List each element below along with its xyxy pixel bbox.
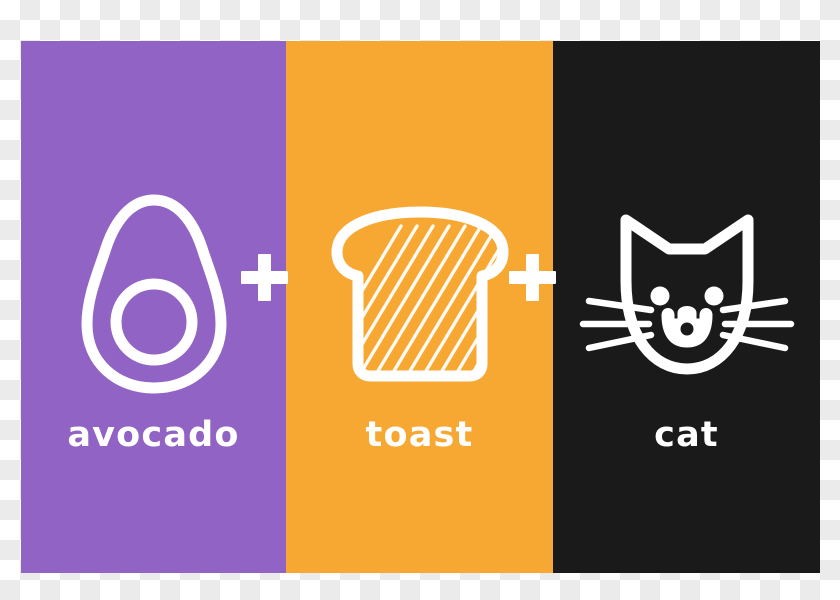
transparency-canvas: avocado <box>0 0 840 600</box>
plus-bar-vertical <box>258 254 271 301</box>
plus-bar-vertical <box>526 254 539 301</box>
panel-avocado[interactable]: avocado <box>21 41 286 573</box>
toast-icon <box>327 204 513 384</box>
plus-operator-1 <box>241 254 288 301</box>
panel-cat[interactable]: cat <box>553 41 820 573</box>
cat-icon-container <box>553 191 820 396</box>
plus-operator-2 <box>509 254 556 301</box>
panel-label-toast: toast <box>286 418 553 453</box>
panel-toast[interactable]: toast <box>286 41 553 573</box>
panel-label-cat: cat <box>553 418 820 453</box>
artwork-board: avocado <box>21 41 820 573</box>
cat-nose-dot <box>680 322 693 335</box>
panel-label-avocado: avocado <box>21 418 286 453</box>
cat-icon <box>579 209 795 379</box>
cat-eye-left <box>650 286 669 305</box>
toast-hatch-fill <box>305 226 561 386</box>
cat-eye-right <box>704 286 723 305</box>
avocado-icon <box>79 191 229 396</box>
